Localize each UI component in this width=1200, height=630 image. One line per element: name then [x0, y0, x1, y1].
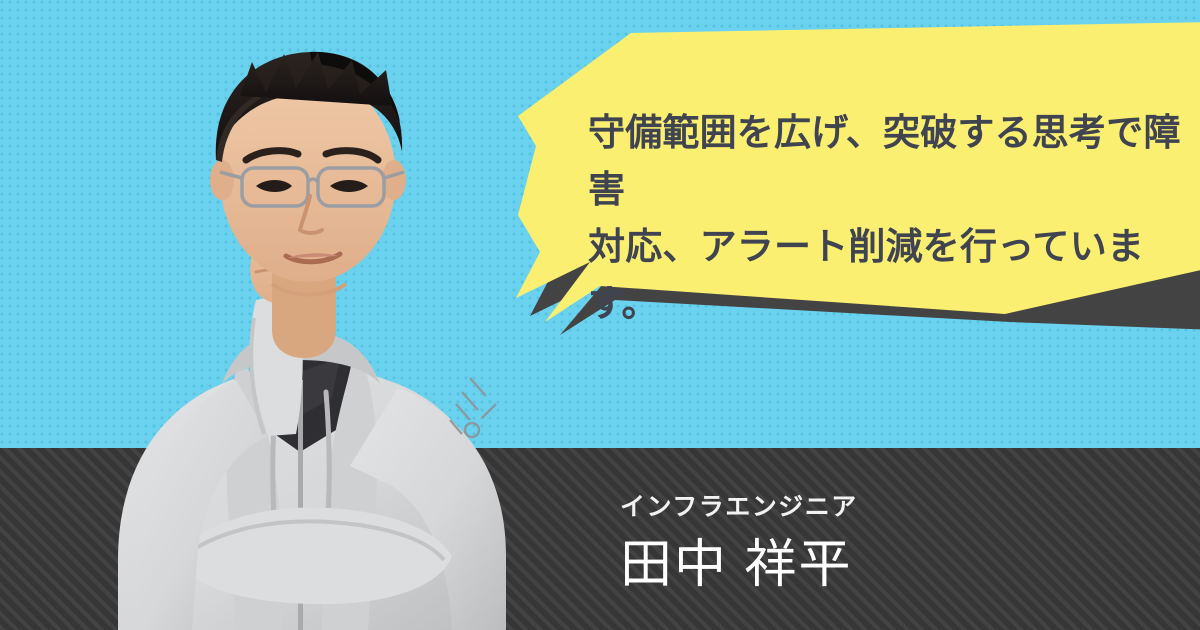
- caption-block: インフラエンジニア 田中 祥平: [620, 490, 1160, 598]
- job-title: インフラエンジニア: [620, 490, 1160, 524]
- profile-card: 守備範囲を広げ、突破する思考で障害 対応、アラート削減を行っています。 インフラ…: [0, 0, 1200, 630]
- speech-bubble-quote: 守備範囲を広げ、突破する思考で障害 対応、アラート削減を行っています。: [588, 104, 1188, 332]
- portrait-photo: [0, 0, 560, 630]
- person-name: 田中 祥平: [620, 532, 1160, 598]
